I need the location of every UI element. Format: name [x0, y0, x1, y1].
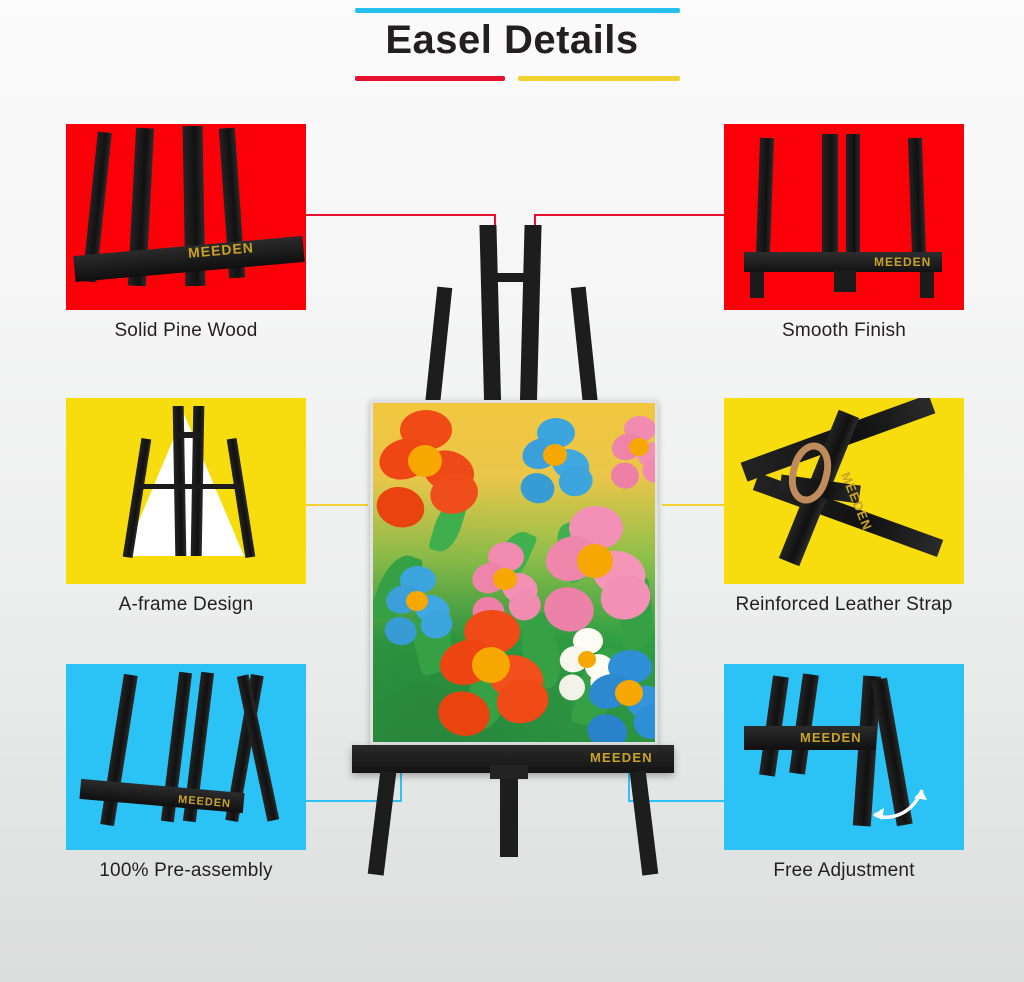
artwork-flower-white — [587, 659, 589, 661]
feature-image-smooth-finish: MEEDEN — [724, 124, 964, 310]
rotation-arrow-icon — [864, 760, 934, 824]
feature-caption-free-adjustment: Free Adjustment — [700, 860, 988, 882]
easel-front-leg-right — [630, 770, 659, 875]
header-rule-top — [355, 8, 680, 13]
header-rule-yellow — [518, 76, 680, 81]
page-title: Easel Details — [0, 18, 1024, 63]
infographic-stage: Easel Details — [0, 0, 1024, 982]
canvas-artwork — [370, 400, 658, 745]
easel-hinge-bracket — [490, 765, 528, 779]
artwork-flower-orange-1 — [425, 461, 427, 463]
feature-caption-pre-assembly: 100% Pre-assembly — [42, 860, 330, 882]
artwork-flower-blue-2 — [417, 601, 419, 603]
feature-caption-reinforced-leather-strap: Reinforced Leather Strap — [700, 594, 988, 616]
feature-caption-solid-pine-wood: Solid Pine Wood — [42, 320, 330, 342]
artwork-flower-pink-3 — [505, 579, 507, 581]
feature-logo-free-adjustment: MEEDEN — [800, 730, 862, 745]
feature-logo-smooth-finish: MEEDEN — [874, 255, 931, 269]
feature-image-reinforced-leather-strap: MEEDEN — [724, 398, 964, 584]
feature-caption-a-frame-design: A-frame Design — [42, 594, 330, 616]
easel-rear-leg-center — [500, 771, 518, 857]
easel-center-post-left — [479, 225, 501, 421]
feature-caption-smooth-finish: Smooth Finish — [700, 320, 988, 342]
easel-front-leg-left — [368, 770, 397, 875]
feature-image-a-frame-design — [66, 398, 306, 584]
feature-image-pre-assembly: MEEDEN — [66, 664, 306, 850]
base-brand-logo: MEEDEN — [590, 750, 653, 765]
feature-image-free-adjustment: MEEDEN — [724, 664, 964, 850]
artwork-flower-pink-1 — [639, 447, 641, 449]
artwork-flower-pink-2 — [595, 561, 597, 563]
artwork-flower-blue-3 — [629, 693, 631, 695]
easel-center-post-right — [519, 225, 541, 421]
easel-top-crossbar — [490, 273, 534, 282]
artwork-flower-blue-1 — [555, 455, 557, 457]
product-easel: MEEDEN — [330, 225, 694, 875]
artwork-flower-orange-2 — [491, 665, 493, 667]
header: Easel Details — [0, 0, 1024, 110]
feature-image-solid-pine-wood: MEEDEN — [66, 124, 306, 310]
header-rule-red — [355, 76, 505, 81]
